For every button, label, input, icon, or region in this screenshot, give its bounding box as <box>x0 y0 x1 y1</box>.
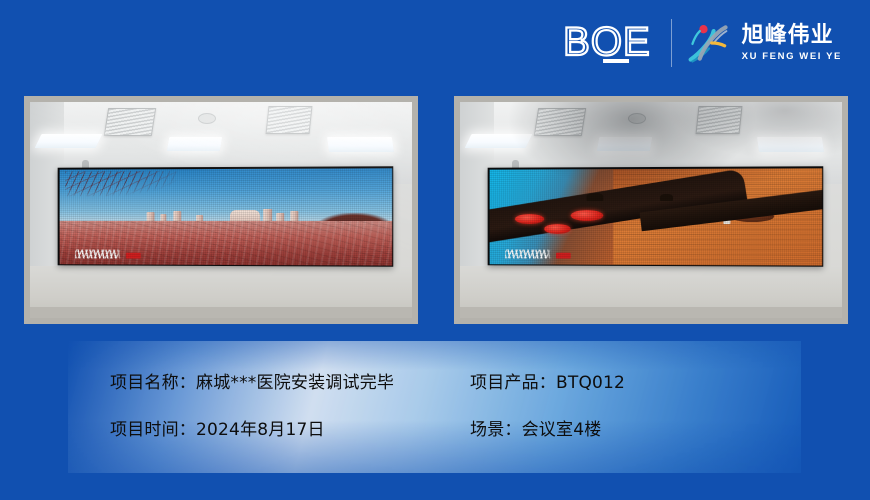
scene-lantern <box>515 214 544 224</box>
watermark-chip-icon <box>126 253 141 259</box>
led-video-wall <box>487 166 823 267</box>
ceiling-light <box>166 137 222 151</box>
partner-logo: 旭峰伟业 XU FENG WEI YE <box>686 20 842 66</box>
ceiling-speaker-icon <box>628 113 646 124</box>
watermark-chip-icon <box>556 253 571 259</box>
info-panel: 项目名称：麻城***医院安装调试完毕 项目产品：BTQ012 项目时间：2024… <box>68 341 801 473</box>
ceiling-light <box>596 137 652 151</box>
info-grid: 项目名称：麻城***医院安装调试完毕 项目产品：BTQ012 项目时间：2024… <box>110 368 625 440</box>
logo-bar: BOE 旭峰伟业 XU FENG WEI YE <box>563 14 842 72</box>
scene-text: 场景：会议室4楼 <box>470 415 625 440</box>
ceiling-light <box>34 134 102 148</box>
project-product-text: 项目产品：BTQ012 <box>470 368 625 393</box>
ceiling-vent-icon <box>265 106 312 134</box>
project-time-text: 项目时间：2024年8月17日 <box>110 415 470 440</box>
ceiling-light <box>327 137 394 152</box>
left-installation-photo <box>24 96 418 324</box>
ceiling-light <box>464 134 532 148</box>
left-photo-image <box>30 102 412 318</box>
boe-wordmark: BOE <box>563 22 650 64</box>
ceiling-light <box>757 137 824 152</box>
partner-name-en: XU FENG WEI YE <box>742 52 842 62</box>
scene-lantern <box>544 224 570 234</box>
video-watermark <box>75 249 141 258</box>
ceiling-vent-icon <box>695 106 742 134</box>
room-interior <box>460 102 842 318</box>
ceiling-speaker-icon <box>198 113 216 124</box>
ceiling-vent-icon <box>534 108 586 136</box>
boe-logo: BOE <box>563 22 666 64</box>
ceiling-vent-icon <box>104 108 156 136</box>
logo-divider <box>671 19 672 67</box>
baseboard <box>460 307 842 318</box>
scene-branches <box>65 171 176 196</box>
video-watermark <box>505 249 571 258</box>
watermark-calligraphy-icon <box>505 249 552 258</box>
baseboard <box>30 307 412 318</box>
xufeng-bird-mark-icon <box>686 20 732 66</box>
partner-name-cn: 旭峰伟业 <box>742 25 842 47</box>
right-photo-image <box>460 102 842 318</box>
right-installation-photo <box>454 96 848 324</box>
partner-name-block: 旭峰伟业 XU FENG WEI YE <box>742 25 842 62</box>
scene-ridge-figure <box>660 193 673 201</box>
boe-underline-bar-icon <box>603 59 629 63</box>
led-screen <box>59 168 392 266</box>
project-name-text: 项目名称：麻城***医院安装调试完毕 <box>110 368 470 393</box>
screen-scene-temple <box>489 168 822 266</box>
led-screen <box>489 168 822 266</box>
screen-scene-ruins <box>59 168 392 266</box>
slide-root: BOE 旭峰伟业 XU FENG WEI YE <box>0 0 870 500</box>
scene-ridge-figure <box>587 192 603 201</box>
led-video-wall <box>57 166 393 267</box>
scene-lantern <box>570 210 603 222</box>
room-interior <box>30 102 412 318</box>
watermark-calligraphy-icon <box>75 249 122 258</box>
